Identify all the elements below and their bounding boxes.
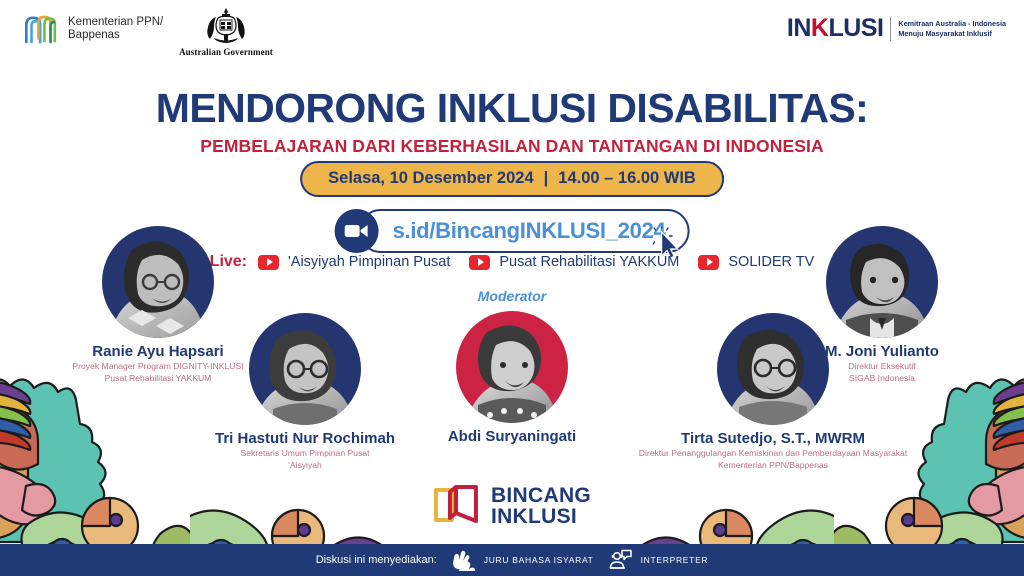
australian-government-logo: Australian Government	[178, 6, 274, 57]
speaker-role-line-1: Direktur Penanggulangan Kemiskinan dan P…	[618, 448, 928, 459]
youtube-icon	[469, 255, 490, 270]
inklusi-logo-divider	[890, 17, 891, 41]
speaker-name: M. Joni Yulianto	[752, 343, 1012, 360]
youtube-icon	[698, 255, 719, 270]
bappenas-logo: Kementerian PPN/ Bappenas	[22, 12, 163, 46]
registration-link-group[interactable]: s.id/BincangINKLUSI_2024	[335, 209, 690, 253]
speaker-role-line-1: Direktur Eksekutif	[752, 361, 1012, 372]
moderator-portrait	[456, 311, 568, 423]
accessibility-lead-text: Diskusi ini menyediakan:	[316, 554, 437, 566]
inklusi-tagline: Kemitraan Australia - Indonesia Menuju M…	[898, 19, 1006, 38]
webinar-poster: Kementerian PPN/ Bappenas Australian	[0, 0, 1024, 576]
accessibility-label-interpreter: INTERPRETER	[641, 555, 709, 565]
live-channel-1: 'Aisyiyah Pimpinan Pusat	[288, 254, 450, 270]
inklusi-word-part-2: LUSI	[828, 14, 883, 42]
header-logos: Kementerian PPN/ Bappenas Australian	[0, 0, 1024, 62]
inklusi-tagline-line-2: Menuju Masyarakat Inklusif	[898, 29, 1006, 39]
avatar-photo	[456, 311, 568, 423]
australian-coat-of-arms-icon	[200, 6, 252, 46]
speaker-card-abdi-suryaningati: Abdi Suryaningati	[392, 311, 632, 445]
video-camera-glyph	[345, 223, 369, 239]
speaker-name: Abdi Suryaningati	[392, 428, 632, 445]
speaker-card-m-joni-yulianto: M. Joni Yulianto Direktur Eksekutif SIGA…	[752, 226, 1012, 383]
bincang-word-line-2: INKLUSI	[491, 506, 591, 527]
inklusi-word-part-1: IN	[787, 14, 811, 42]
date-time-separator: |	[534, 169, 559, 187]
registration-link-text[interactable]: s.id/BincangINKLUSI_2024	[393, 218, 666, 244]
australian-government-caption: Australian Government	[178, 47, 274, 57]
interpreter-headset-icon	[608, 549, 634, 571]
date-time-badge: Selasa, 10 Desember 2024|14.00 – 16.00 W…	[300, 161, 724, 197]
sign-language-hands-icon	[451, 549, 477, 571]
speaker-name: Tirta Sutedjo, S.T., MWRM	[618, 430, 928, 447]
bincang-inklusi-logo: BINCANG INKLUSI	[433, 484, 591, 528]
avatar-photo	[249, 313, 361, 425]
bappenas-logo-text: Kementerian PPN/ Bappenas	[68, 16, 163, 42]
avatar	[826, 226, 938, 338]
speaker-role-line-2: 'Aisyiyah	[160, 460, 450, 471]
video-camera-icon	[335, 209, 379, 253]
avatar	[456, 311, 568, 423]
inklusi-logo: INKLUSI Kemitraan Australia - Indonesia …	[787, 16, 1006, 41]
registration-link-pill[interactable]: s.id/BincangINKLUSI_2024	[359, 209, 690, 253]
avatar-photo	[826, 226, 938, 338]
accessibility-item-sign-language: JURU BAHASA ISYARAT	[451, 549, 594, 571]
event-time: 14.00 – 16.00 WIB	[558, 169, 696, 187]
bappenas-line-2: Bappenas	[68, 29, 163, 42]
avatar	[249, 313, 361, 425]
inklusi-tagline-line-1: Kemitraan Australia - Indonesia	[898, 19, 1006, 29]
speaker-portrait	[826, 226, 938, 338]
inklusi-word-k: K	[811, 14, 829, 42]
speaker-role-line-2: SIGAB Indonesia	[752, 373, 1012, 384]
speaker-role-line-2: Kementerian PPN/Bappenas	[618, 460, 928, 471]
bappenas-line-1: Kementerian PPN/	[68, 16, 163, 29]
accessibility-label-sign-language: JURU BAHASA ISYARAT	[484, 555, 594, 565]
bincang-word-line-1: BINCANG	[491, 485, 591, 506]
inklusi-wordmark: INKLUSI	[787, 16, 884, 41]
accessibility-item-interpreter: INTERPRETER	[608, 549, 709, 571]
bappenas-mark-icon	[22, 12, 60, 46]
speaker-portrait	[249, 313, 361, 425]
speaker-role-line-1: Sekretaris Umum Pimpinan Pusat	[160, 448, 450, 459]
event-date: Selasa, 10 Desember 2024	[328, 169, 534, 187]
open-book-icon	[433, 484, 479, 528]
live-channel-2: Pusat Rehabilitasi YAKKUM	[499, 254, 679, 270]
bincang-inklusi-wordmark: BINCANG INKLUSI	[491, 485, 591, 527]
poster-subtitle: PEMBELAJARAN DARI KEBERHASILAN DAN TANTA…	[0, 136, 1024, 157]
accessibility-bottom-bar: Diskusi ini menyediakan: JURU BAHASA ISY…	[0, 544, 1024, 576]
poster-title: MENDORONG INKLUSI DISABILITAS:	[0, 88, 1024, 129]
